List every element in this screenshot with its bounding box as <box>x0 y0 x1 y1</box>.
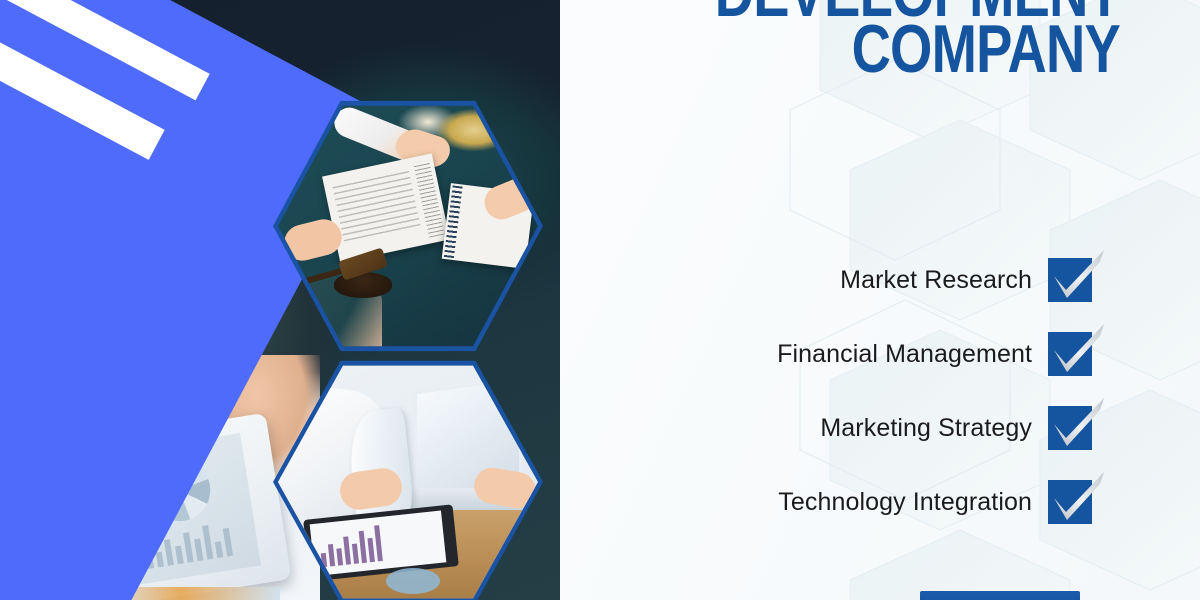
checklist-label: Marketing Strategy <box>820 414 1032 443</box>
report-bar-graphic <box>318 525 382 567</box>
checklist-label: Market Research <box>840 266 1032 295</box>
check-icon[interactable] <box>1048 258 1092 302</box>
checklist-item-marketing-strategy[interactable]: Marketing Strategy <box>777 406 1092 450</box>
checklist-label: Financial Management <box>777 340 1032 369</box>
check-icon[interactable] <box>1048 406 1092 450</box>
page-title: DEVELOPMENT COMPANY <box>704 0 1120 78</box>
contract-document <box>322 153 450 262</box>
report-sheet <box>310 511 447 577</box>
chart-blob-graphic <box>386 568 440 594</box>
checklist-item-market-research[interactable]: Market Research <box>777 258 1092 302</box>
service-checklist: Market Research Financial Management <box>777 258 1092 524</box>
checklist-item-technology-integration[interactable]: Technology Integration <box>777 480 1092 524</box>
cta-button[interactable] <box>920 591 1080 600</box>
check-icon[interactable] <box>1048 480 1092 524</box>
checklist-item-financial-management[interactable]: Financial Management <box>777 332 1092 376</box>
checklist-label: Technology Integration <box>778 488 1032 517</box>
check-icon[interactable] <box>1048 332 1092 376</box>
banner-root: DEVELOPMENT COMPANY Market Research <box>0 0 1200 600</box>
hand-on-desk <box>281 216 346 265</box>
